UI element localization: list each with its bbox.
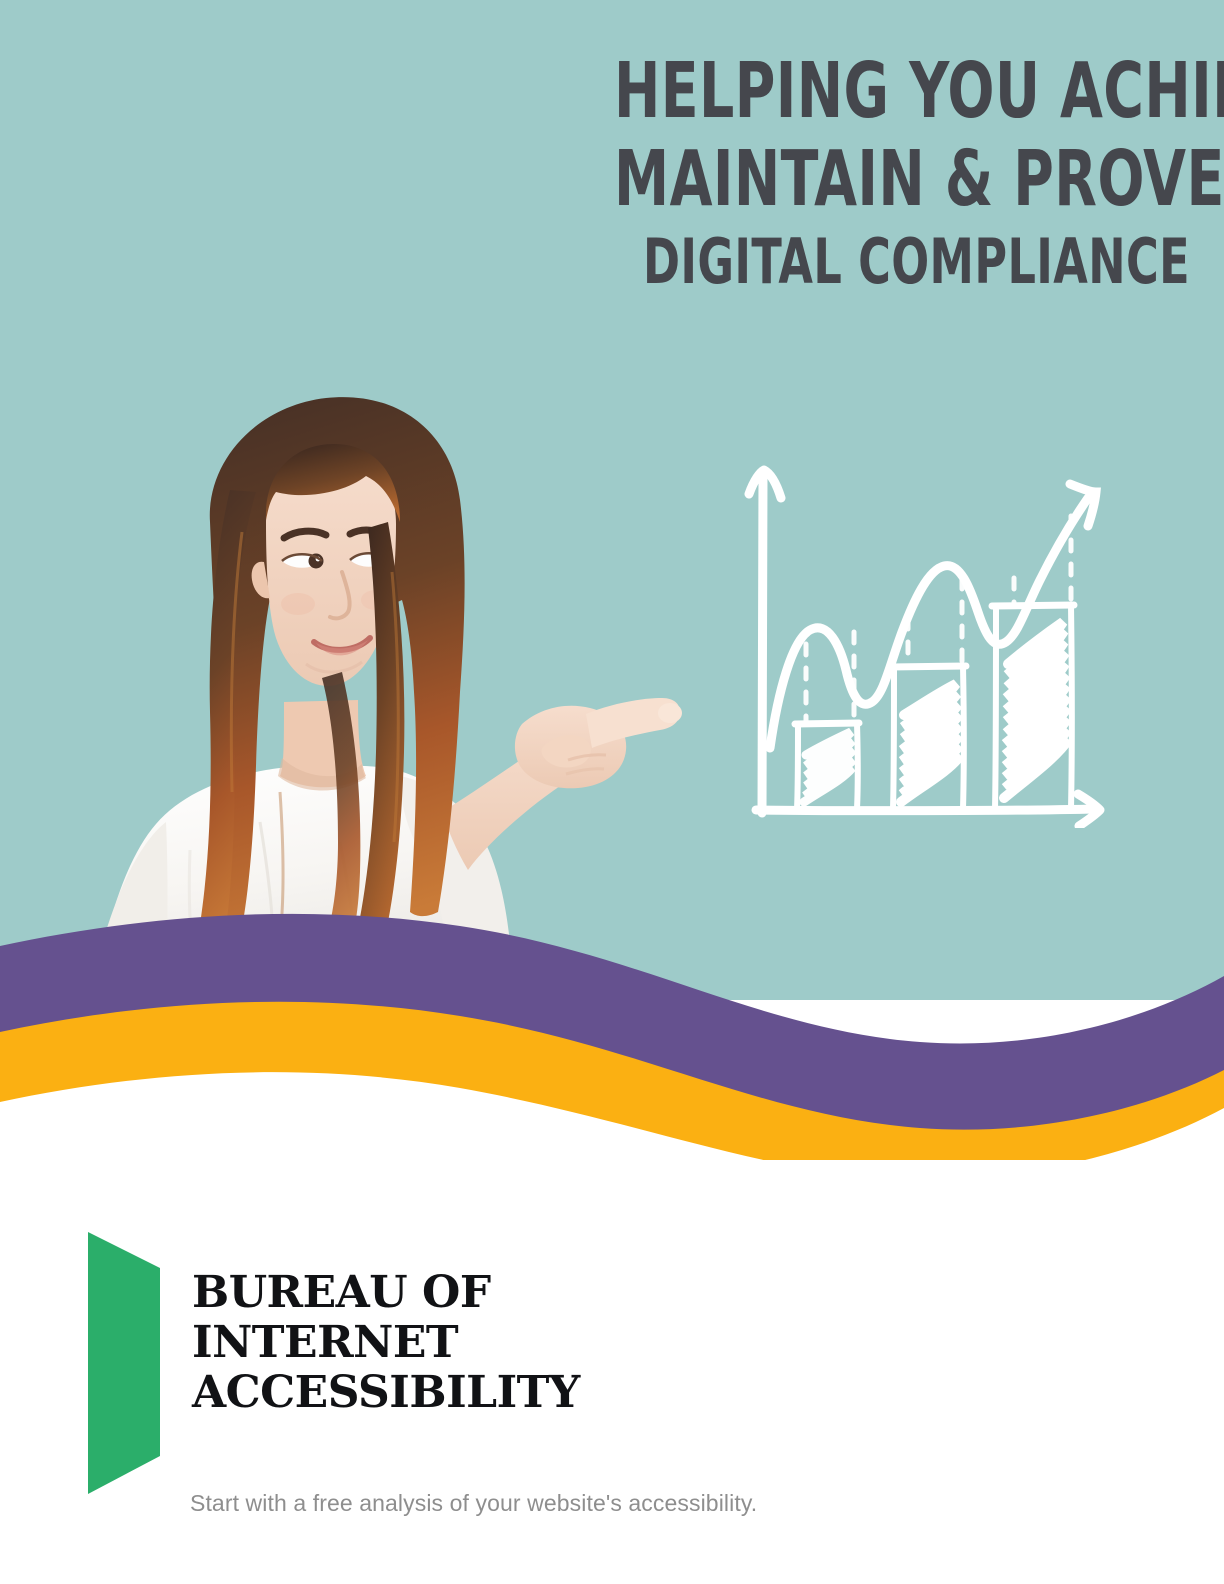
wave-divider — [0, 880, 1224, 1160]
cover-page: HELPING YOU ACHIEVE MAINTAIN & PROVE DIG… — [0, 0, 1224, 1584]
brand-name-line-3: ACCESSIBILITY — [192, 1368, 580, 1418]
brand-name-line-2: INTERNET — [192, 1318, 580, 1368]
hero-section: HELPING YOU ACHIEVE MAINTAIN & PROVE DIG… — [0, 0, 1224, 1160]
bureau-arrow-logo-icon — [88, 1232, 160, 1494]
headline-line-2: MAINTAIN & PROVE — [614, 136, 1190, 224]
page-title: HELPING YOU ACHIEVE MAINTAIN & PROVE DIG… — [470, 48, 1190, 300]
headline-line-3: DIGITAL COMPLIANCE — [614, 224, 1190, 300]
headline-line-1: HELPING YOU ACHIEVE — [614, 48, 1190, 136]
brand-name: BUREAU OF INTERNET ACCESSIBILITY — [192, 1232, 580, 1418]
brand-tagline: Start with a free analysis of your websi… — [190, 1490, 757, 1517]
brand-footer: BUREAU OF INTERNET ACCESSIBILITY — [0, 1180, 1224, 1584]
brand-lockup: BUREAU OF INTERNET ACCESSIBILITY — [88, 1232, 580, 1494]
brand-name-line-1: BUREAU OF — [192, 1268, 580, 1318]
growth-chart-illustration — [726, 428, 1126, 828]
